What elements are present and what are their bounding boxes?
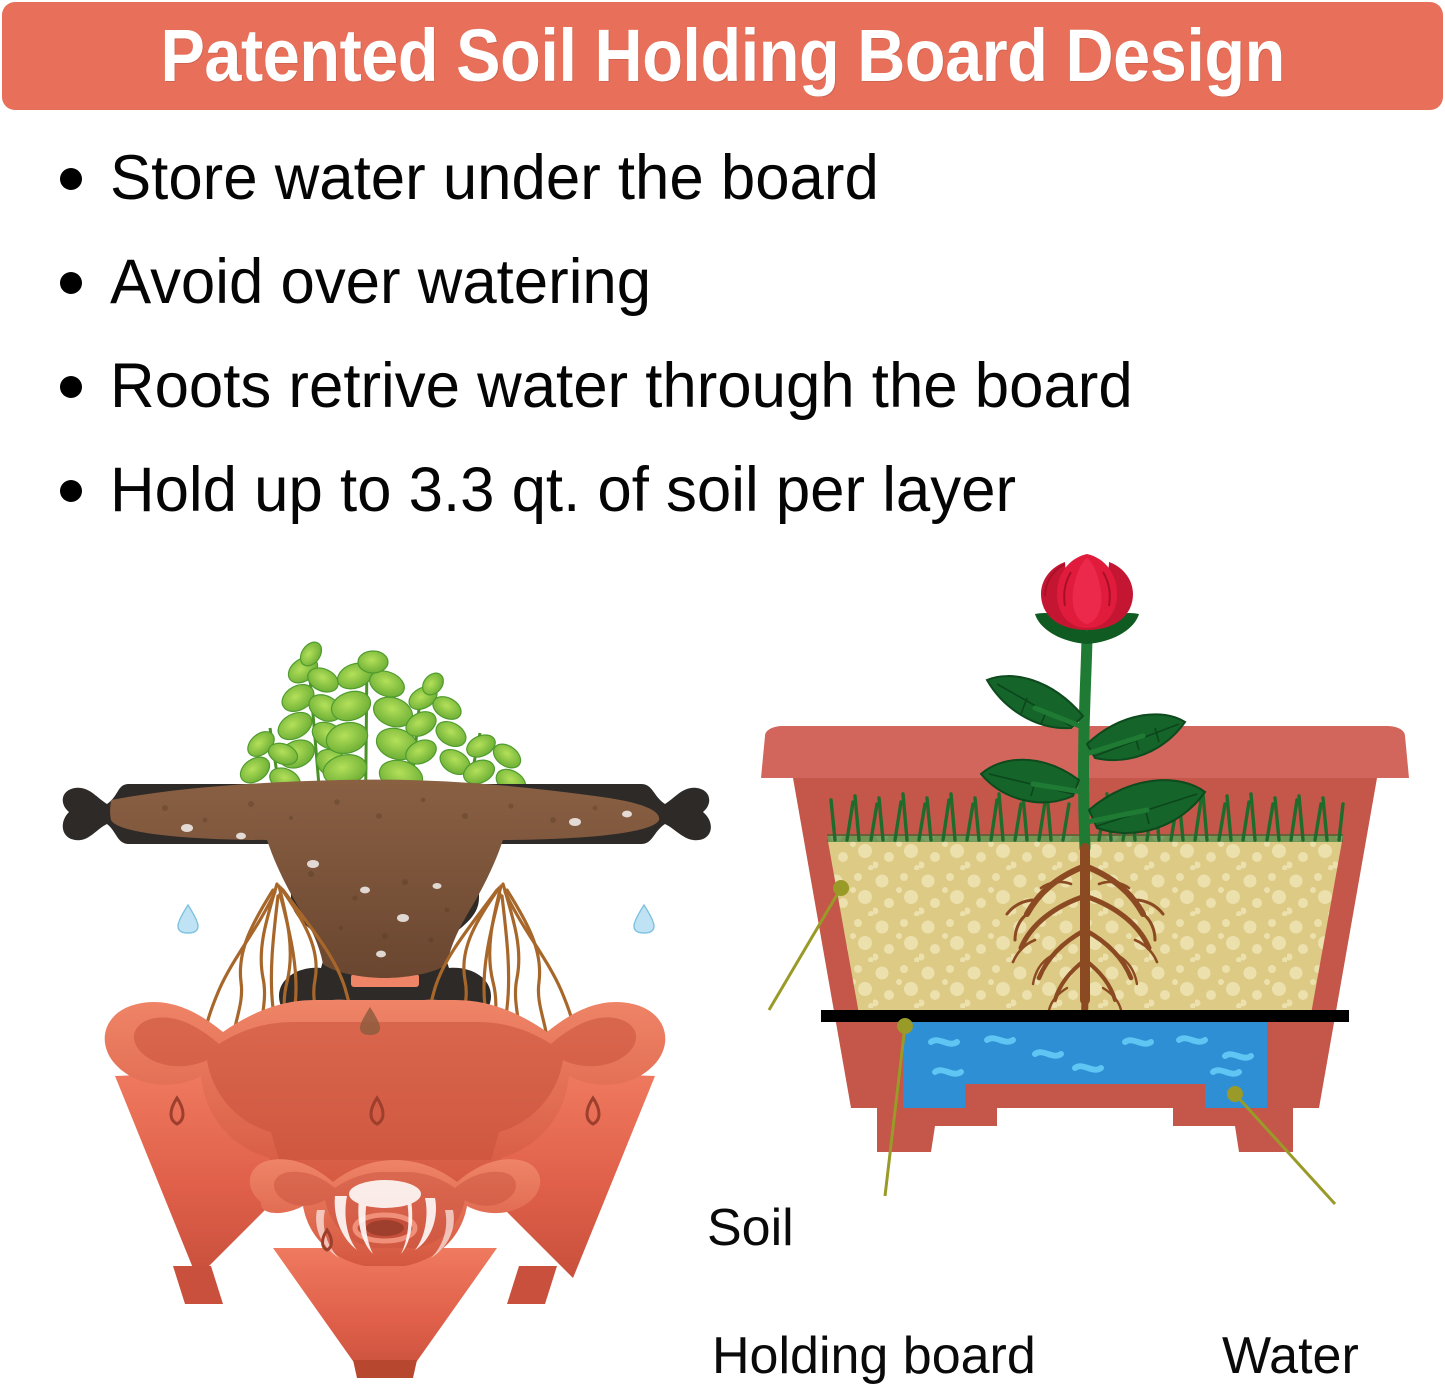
bullet-dot-icon [60,376,82,398]
bullet-text: Avoid over watering [110,244,651,320]
illustration-area [0,548,1445,1394]
bullet-dot-icon [60,480,82,502]
label-holding-board: Holding board [712,1328,1036,1384]
feature-bullet-list: Store water under the board Avoid over w… [0,140,1445,556]
water-drop-icon [359,1006,381,1036]
list-item: Avoid over watering [0,244,1445,348]
list-item: Hold up to 3.3 qt. of soil per layer [0,452,1445,556]
bullet-text: Hold up to 3.3 qt. of soil per layer [110,452,1016,528]
list-item: Roots retrive water through the board [0,348,1445,452]
water-drop-icon [177,904,199,934]
page-title: Patented Soil Holding Board Design [160,19,1284,93]
water-drop-icon [633,904,655,934]
label-water: Water [1222,1328,1359,1384]
list-item: Store water under the board [0,140,1445,244]
pot-cross-section-diagram [735,548,1435,1394]
bullet-dot-icon [60,272,82,294]
label-soil: Soil [707,1200,794,1256]
stacking-planter-icon [65,948,705,1378]
stacked-planter-photo [55,548,715,1378]
header-banner: Patented Soil Holding Board Design [2,2,1443,110]
bullet-text: Roots retrive water through the board [110,348,1133,424]
bullet-dot-icon [60,168,82,190]
bullet-text: Store water under the board [110,140,879,216]
